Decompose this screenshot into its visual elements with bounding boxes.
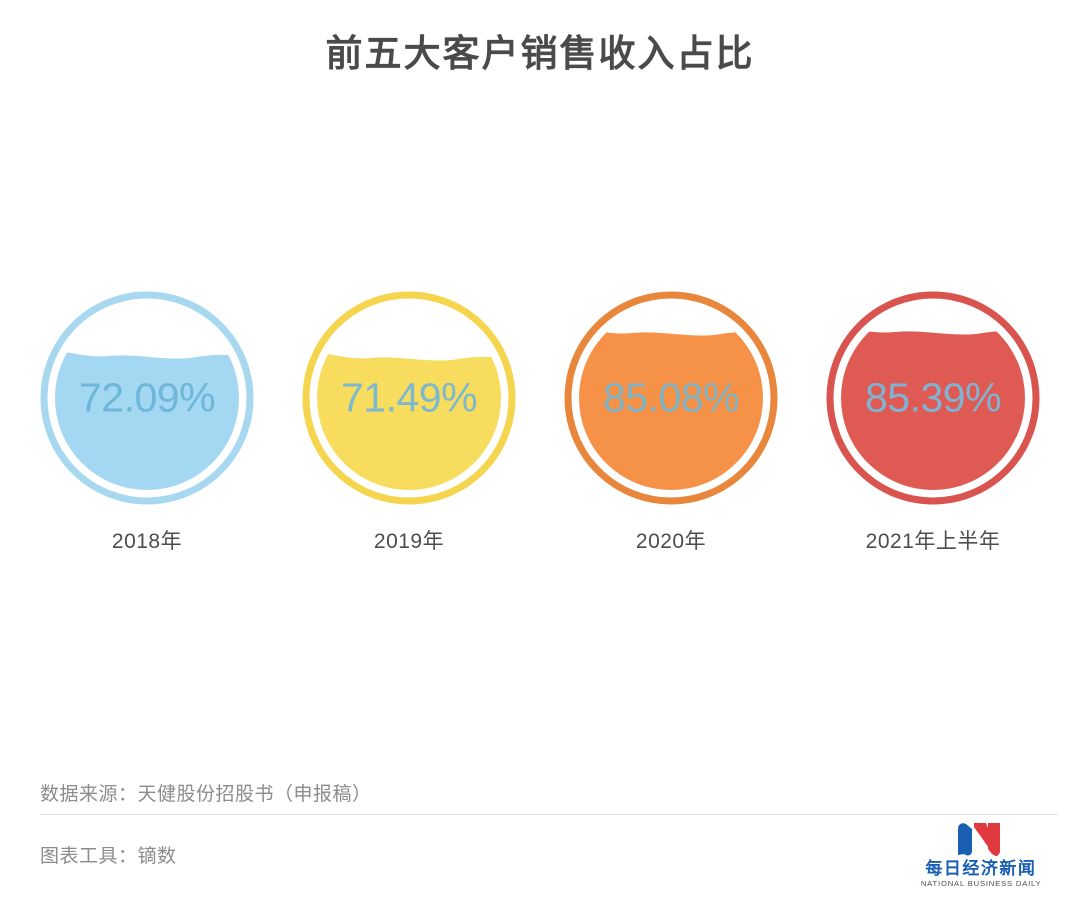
- liquid-gauge-chart: 71.49%: [301, 290, 517, 506]
- gauge-liquid-fill: [825, 327, 1041, 506]
- gauge-label-2019: 2019年: [374, 525, 444, 555]
- liquid-gauge-chart: 85.39%: [825, 290, 1041, 506]
- page-title: 前五大客户销售收入占比: [0, 32, 1080, 76]
- data-source-line: 数据来源：天健股份招股书（申报稿）: [40, 770, 1058, 814]
- footer-bottom-row: 图表工具：镝数 每日经济新闻 NATIONAL BUSINESS DAILY: [40, 815, 1058, 893]
- logo-blue-stroke: [958, 823, 972, 855]
- gauge-label-2020: 2020年: [636, 525, 706, 555]
- nbd-logo: 每日经济新闻 NATIONAL BUSINESS DAILY: [922, 821, 1040, 888]
- logo-red-bar: [988, 823, 1000, 855]
- gauge-item-2021h1: 85.39% 2021年上半年: [817, 290, 1049, 555]
- gauge-svg-2021h1: [825, 290, 1041, 506]
- gauge-row: 72.09% 2018年 71.49% 2019年: [0, 290, 1080, 555]
- chart-tool-line: 图表工具：镝数: [40, 841, 177, 868]
- gauge-svg-2018: [39, 290, 255, 506]
- title-section: 前五大客户销售收入占比: [0, 0, 1080, 76]
- gauge-label-2018: 2018年: [112, 525, 182, 555]
- liquid-gauge-chart: 85.08%: [563, 290, 779, 506]
- gauge-liquid-fill: [301, 352, 517, 506]
- liquid-gauge-chart: 72.09%: [39, 290, 255, 506]
- gauge-liquid-fill: [39, 350, 255, 506]
- gauge-liquid-fill: [563, 328, 779, 506]
- gauge-svg-2019: [301, 290, 517, 506]
- gauge-item-2019: 71.49% 2019年: [293, 290, 525, 555]
- wave-path: [563, 328, 779, 506]
- gauge-item-2020: 85.08% 2020年: [555, 290, 787, 555]
- wave-path: [825, 327, 1041, 506]
- chart-tool-text: 图表工具：镝数: [40, 841, 177, 868]
- logo-name-cn: 每日经济新闻: [925, 860, 1036, 877]
- footer: 数据来源：天健股份招股书（申报稿） 图表工具：镝数 每日经济新闻 NATIONA…: [40, 770, 1058, 893]
- wave-path: [301, 352, 517, 506]
- gauge-item-2018: 72.09% 2018年: [31, 290, 263, 555]
- logo-name-en: NATIONAL BUSINESS DAILY: [921, 880, 1042, 888]
- data-source-text: 数据来源：天健股份招股书（申报稿）: [40, 779, 372, 806]
- gauge-label-2021h1: 2021年上半年: [866, 525, 1001, 555]
- wave-path: [39, 350, 255, 506]
- nbd-logo-mark-icon: [952, 821, 1010, 857]
- gauge-svg-2020: [563, 290, 779, 506]
